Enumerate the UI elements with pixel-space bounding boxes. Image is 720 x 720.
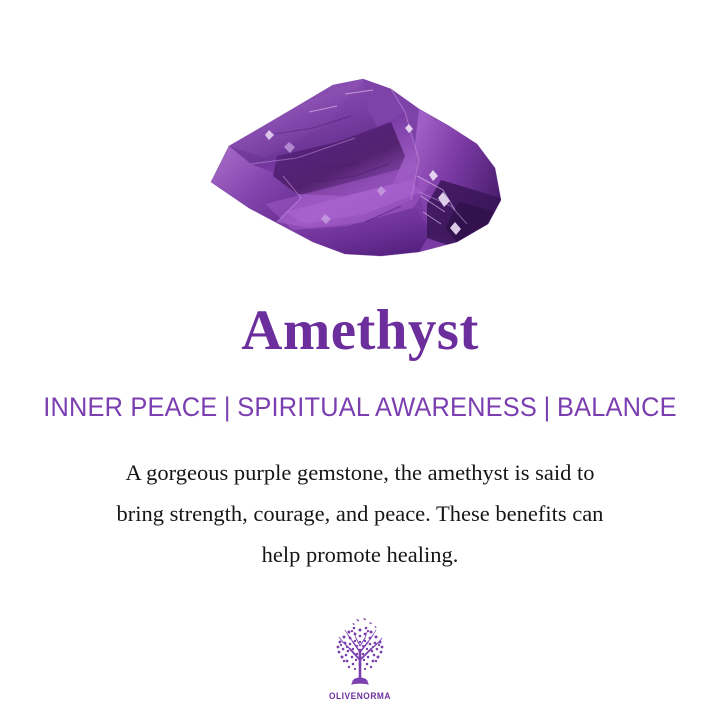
description-line-1: A gorgeous purple gemstone, the amethyst… [45, 452, 675, 493]
brand-logo: OLIVENORMA [300, 616, 420, 702]
keywords-line: INNER PEACE|SPIRITUAL AWARENESS|BALANCE [22, 391, 699, 423]
keyword-separator-2: | [537, 391, 557, 423]
brand-wordmark: OLIVENORMA [307, 691, 413, 702]
page-title: Amethyst [0, 300, 720, 362]
description-line-2: bring strength, courage, and peace. Thes… [45, 493, 675, 534]
raw-amethyst-crystal-image [205, 72, 515, 272]
gemstone-image-area [0, 0, 720, 285]
keyword-spiritual-awareness: SPIRITUAL AWARENESS [237, 392, 537, 422]
tree-icon [324, 616, 396, 690]
keyword-separator-1: | [217, 391, 237, 423]
amethyst-info-card: Amethyst INNER PEACE|SPIRITUAL AWARENESS… [0, 0, 720, 720]
keyword-balance: BALANCE [557, 392, 677, 422]
description-text: A gorgeous purple gemstone, the amethyst… [45, 452, 675, 575]
keyword-inner-peace: INNER PEACE [43, 392, 217, 422]
description-line-3: help promote healing. [45, 534, 675, 575]
